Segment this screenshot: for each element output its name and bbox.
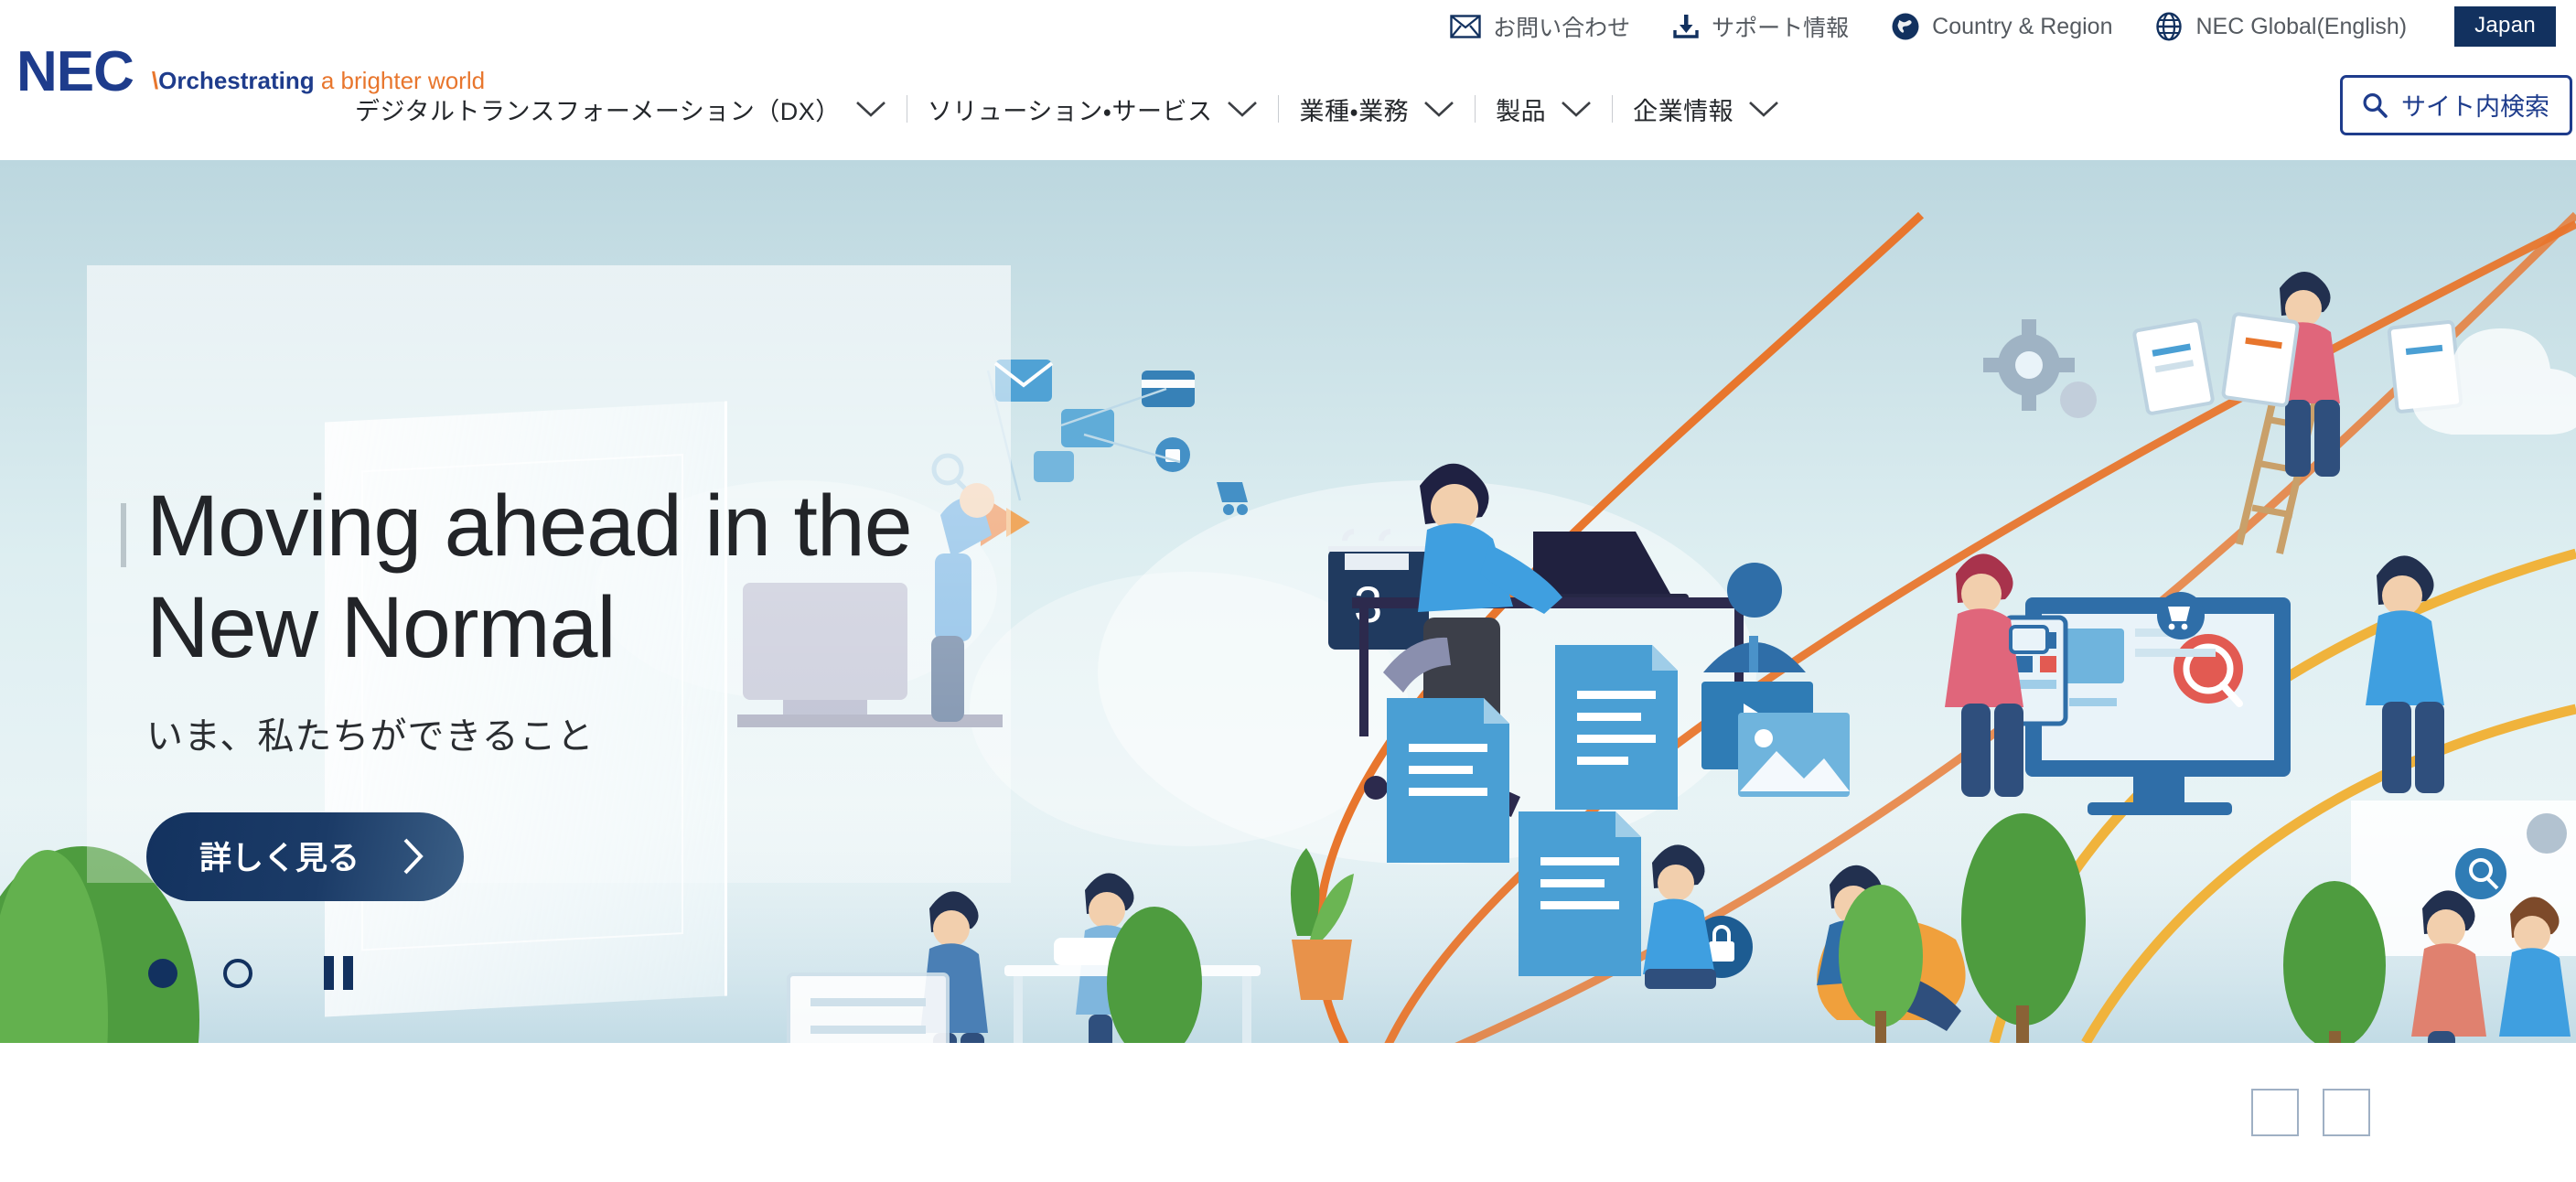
utility-label: お問い合わせ — [1493, 10, 1630, 43]
site-search-label: サイト内検索 — [2401, 87, 2549, 123]
news-next-button[interactable] — [2323, 1089, 2370, 1136]
chevron-down-icon — [1423, 100, 1454, 118]
nav-divider — [1612, 95, 1613, 123]
news-ticker-controls — [2251, 1089, 2468, 1136]
news-headline-link[interactable]: NEC、全国初の4.7GHz帯スタンドアローン構成のローカル5G無線局免許を取得 — [389, 1092, 1422, 1134]
nav-divider — [907, 95, 907, 123]
hero-title: Moving ahead in the New Normal — [146, 476, 912, 679]
nav-item-industries[interactable]: 業種・業務 — [1299, 91, 1454, 127]
nav-item-corporate-info[interactable]: 企業情報 — [1633, 91, 1779, 127]
utility-label: Country & Region — [1932, 14, 2112, 40]
hero-cta-label: 詳しく見る — [199, 833, 360, 879]
nec-logo-text: NEC — [16, 44, 134, 101]
utility-item-country-region[interactable]: Country & Region — [1891, 12, 2112, 41]
nav-item-solutions-services[interactable]: ソリューション・サービス — [928, 91, 1259, 127]
hero-content: Moving ahead in the New Normal いま、私たちができ… — [146, 476, 912, 901]
utility-item-nec-global[interactable]: NEC Global(English) — [2154, 12, 2407, 41]
utility-bar: お問い合わせ サポート情報 — [1408, 0, 2576, 53]
news-prev-button[interactable] — [2251, 1089, 2299, 1136]
hero-carousel-controls — [148, 956, 353, 990]
utility-item-contact[interactable]: お問い合わせ — [1450, 10, 1630, 43]
globe-outline-icon — [2154, 12, 2184, 41]
site-header: お問い合わせ サポート情報 — [0, 0, 2576, 160]
carousel-dot-2[interactable] — [223, 959, 252, 988]
nav-divider — [1278, 95, 1279, 123]
page-root: お問い合わせ サポート情報 — [0, 0, 2576, 1182]
hero-subtitle: いま、私たちができること — [146, 706, 912, 759]
utility-item-support[interactable]: サポート情報 — [1672, 10, 1849, 43]
search-icon — [2361, 91, 2388, 119]
chevron-down-icon — [1748, 100, 1779, 118]
utility-label: サポート情報 — [1712, 10, 1849, 43]
hero-cta-button[interactable]: 詳しく見る — [146, 812, 464, 901]
region-badge-japan[interactable]: Japan — [2454, 6, 2556, 47]
mail-icon — [1450, 15, 1481, 38]
chevron-right-icon — [402, 836, 425, 876]
nav-label: 企業情報 — [1633, 91, 1733, 127]
nav-label: 業種・業務 — [1299, 91, 1409, 127]
nav-label: ソリューション・サービス — [928, 91, 1213, 127]
chevron-left-icon — [2266, 1099, 2284, 1126]
chevron-down-icon — [1227, 100, 1258, 118]
nav-item-products[interactable]: 製品 — [1496, 91, 1592, 127]
carousel-pause-button[interactable] — [324, 956, 353, 990]
hero-accent-bar — [121, 503, 126, 567]
nav-divider — [1475, 95, 1476, 123]
tagline-orchestrating: Orchestrating — [158, 67, 315, 94]
nav-item-dx[interactable]: デジタルトランスフォーメーション（DX） — [355, 91, 886, 127]
chevron-right-icon — [2337, 1099, 2356, 1126]
main-navigation: デジタルトランスフォーメーション（DX） ソリューション・サービス 業種・業務 … — [355, 81, 1779, 137]
hero-carousel: 3 — [0, 160, 2576, 1043]
utility-label: NEC Global(English) — [2195, 14, 2407, 40]
nav-label: 製品 — [1496, 91, 1546, 127]
site-search-button[interactable]: サイト内検索 — [2340, 75, 2572, 135]
news-date: 2021年2月9日 — [135, 1092, 323, 1134]
carousel-dot-1[interactable] — [148, 959, 177, 988]
chevron-down-icon — [855, 100, 886, 118]
news-pause-button[interactable] — [2434, 1093, 2468, 1132]
globe-filled-icon — [1891, 12, 1920, 41]
nav-label: デジタルトランスフォーメーション（DX） — [355, 91, 841, 127]
chevron-down-icon — [1561, 100, 1592, 118]
download-icon — [1672, 13, 1700, 40]
news-ticker: 2021年2月9日 NEC、全国初の4.7GHz帯スタンドアローン構成のローカル… — [0, 1043, 2576, 1182]
